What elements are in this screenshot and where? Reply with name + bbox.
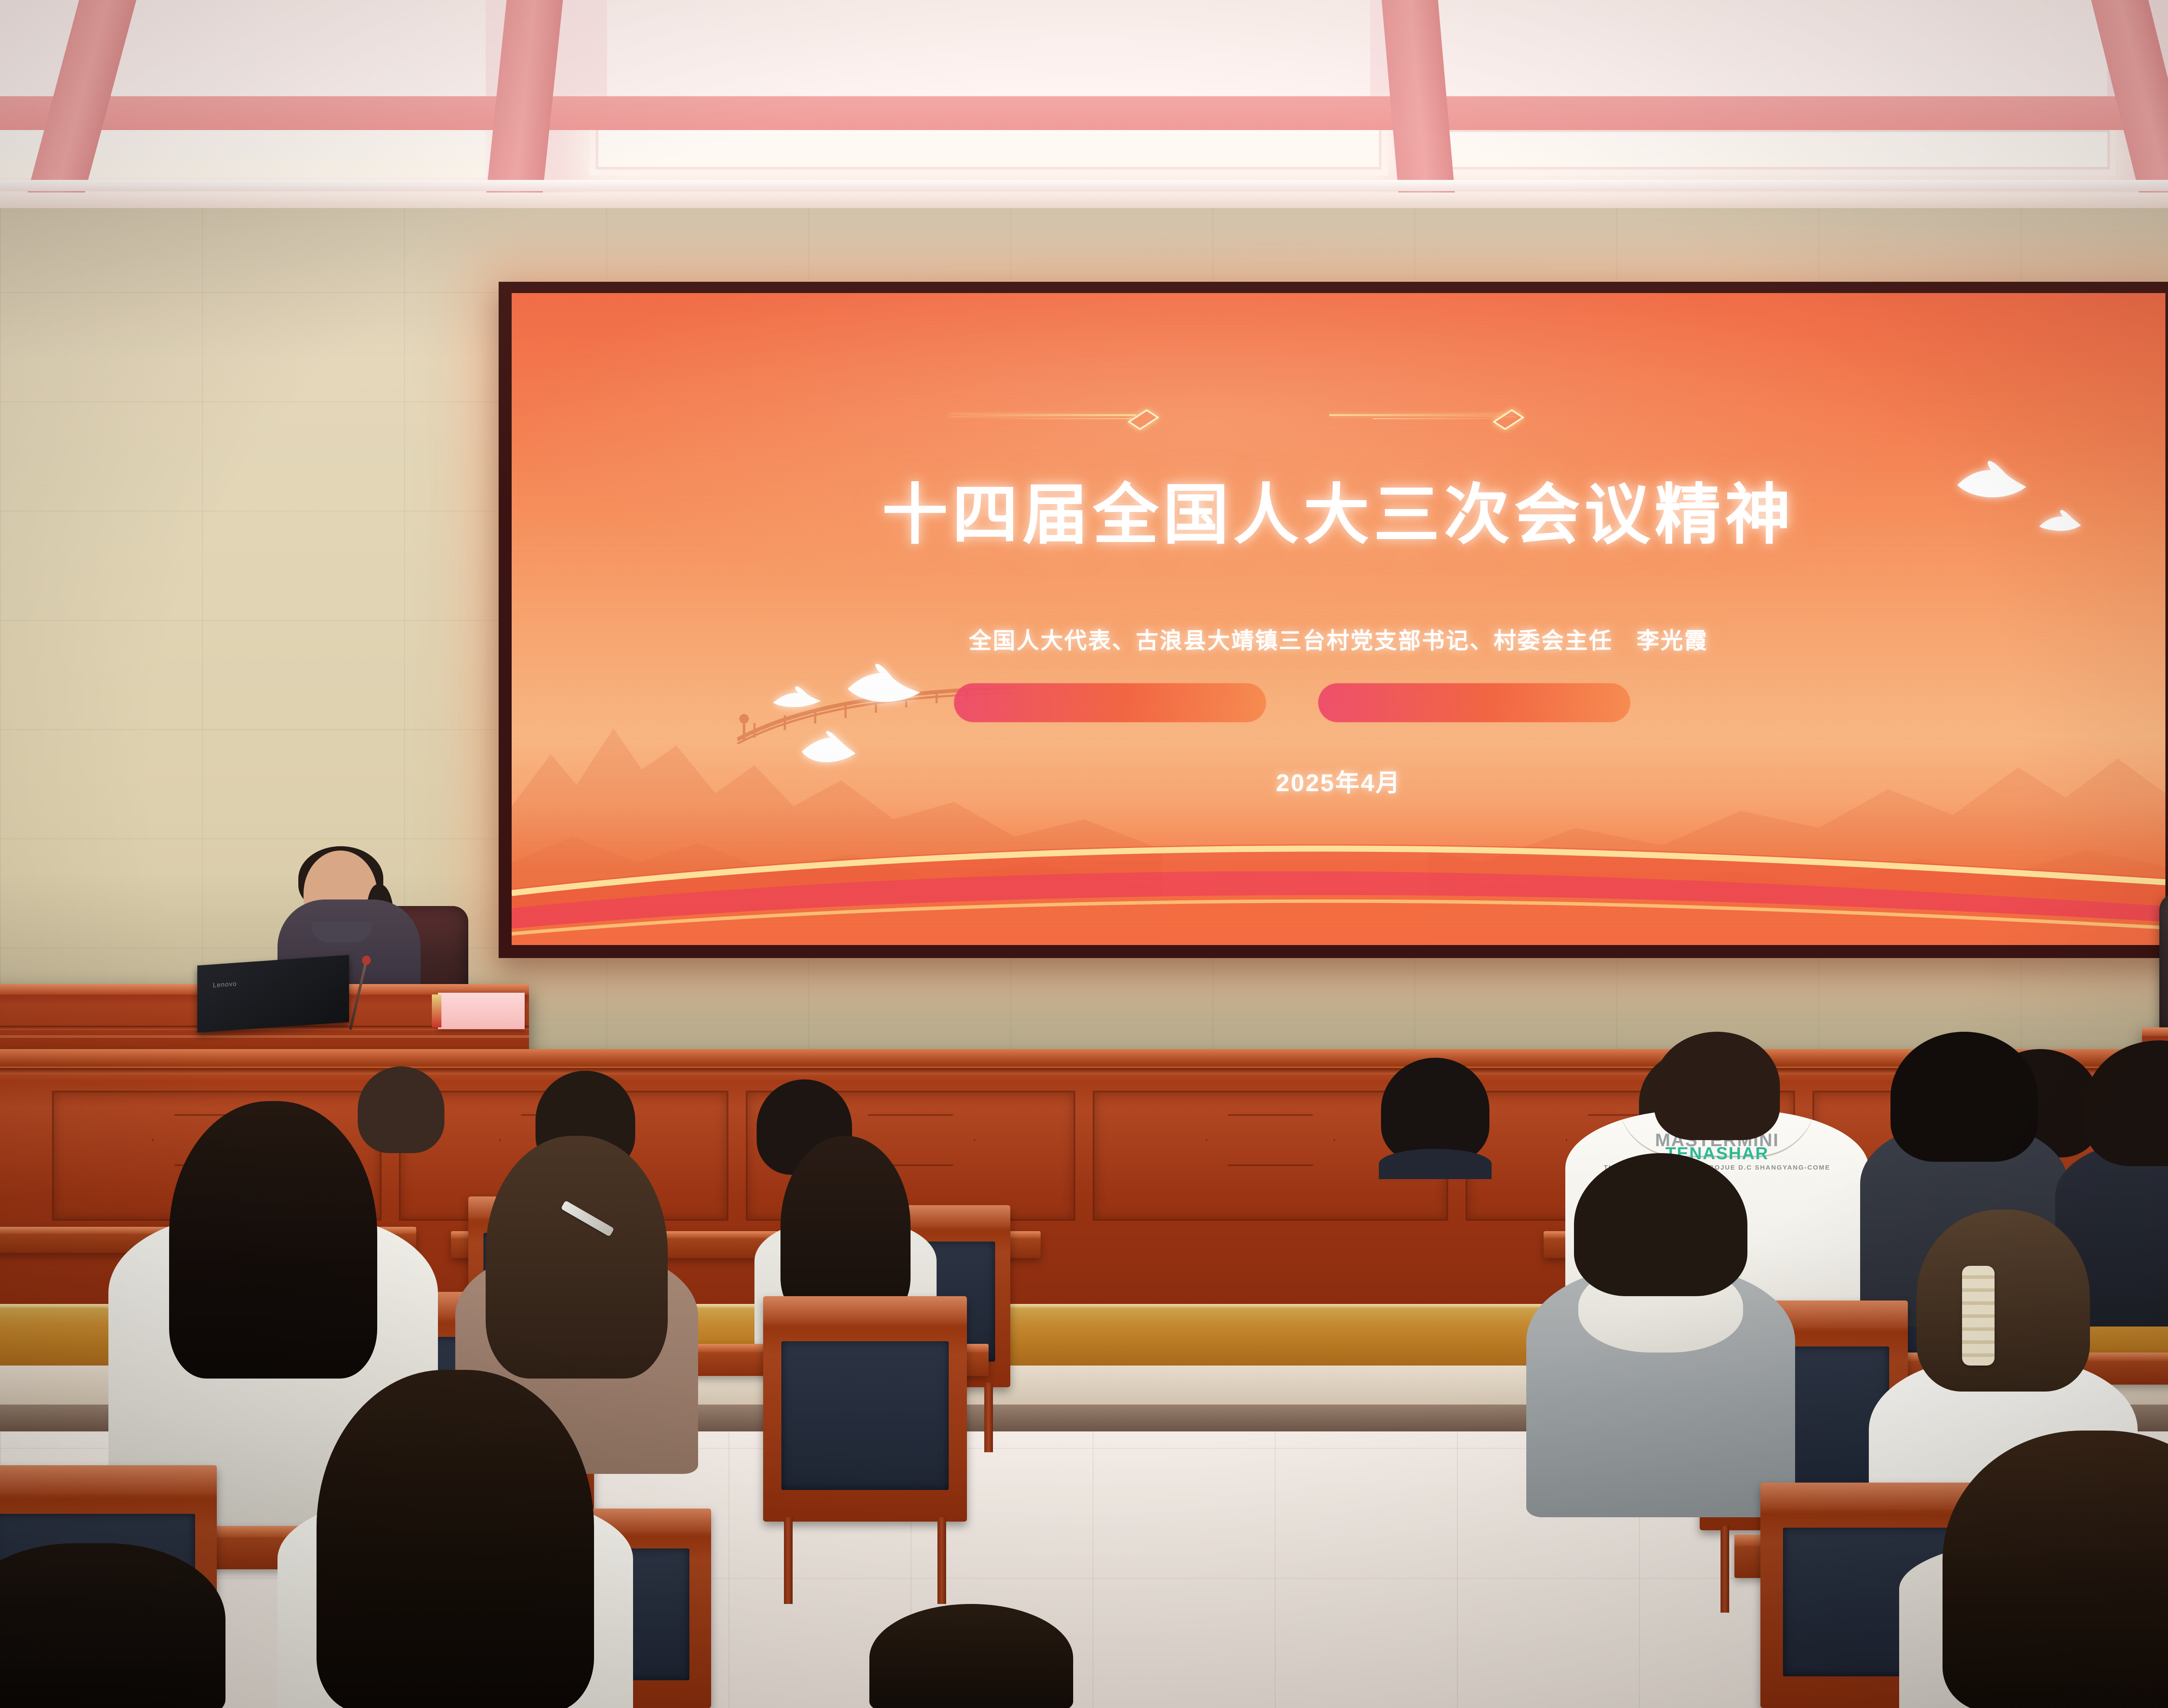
ceiling-light-3 (1440, 124, 2116, 176)
ceiling (0, 0, 2168, 243)
audience-member (1526, 1153, 1795, 1517)
speaker-nameplate (438, 993, 525, 1029)
audience-member (278, 1370, 633, 1708)
led-display[interactable]: 十四届全国人大三次会议精神 全国人大代表、古浪县大靖镇三台村党支部书记、村委会主… (512, 293, 2165, 945)
laptop[interactable]: Lenovo (197, 955, 349, 1033)
presentation-title: 十四届全国人大三次会议精神 (512, 461, 2165, 557)
audience-member (1379, 1058, 1492, 1179)
audience-member (859, 1604, 1084, 1708)
presentation-subtitle: 全国人大代表、古浪县大靖镇三台村党支部书记、村委会主任 李光霞 (512, 623, 2165, 655)
presentation-date: 2025年4月 (512, 763, 2165, 799)
audience-member (1899, 1431, 2168, 1708)
speaker-collar (311, 922, 372, 942)
led-display-frame: 十四届全国人大三次会议精神 全国人大代表、古浪县大靖镇三台村党支部书记、村委会主… (499, 282, 2168, 958)
auditorium-seat[interactable] (763, 1296, 967, 1522)
executive-chair-right[interactable] (2159, 893, 2168, 1036)
ceiling-beam-horizontal (0, 96, 2168, 130)
audience-member (0, 1543, 243, 1708)
laptop-brand-label: Lenovo (213, 980, 237, 989)
conference-hall-scene: 十四届全国人大三次会议精神 全国人大代表、古浪县大靖镇三台村党支部书记、村委会主… (0, 0, 2168, 1708)
hair-claw-clip-icon (1962, 1266, 1995, 1366)
